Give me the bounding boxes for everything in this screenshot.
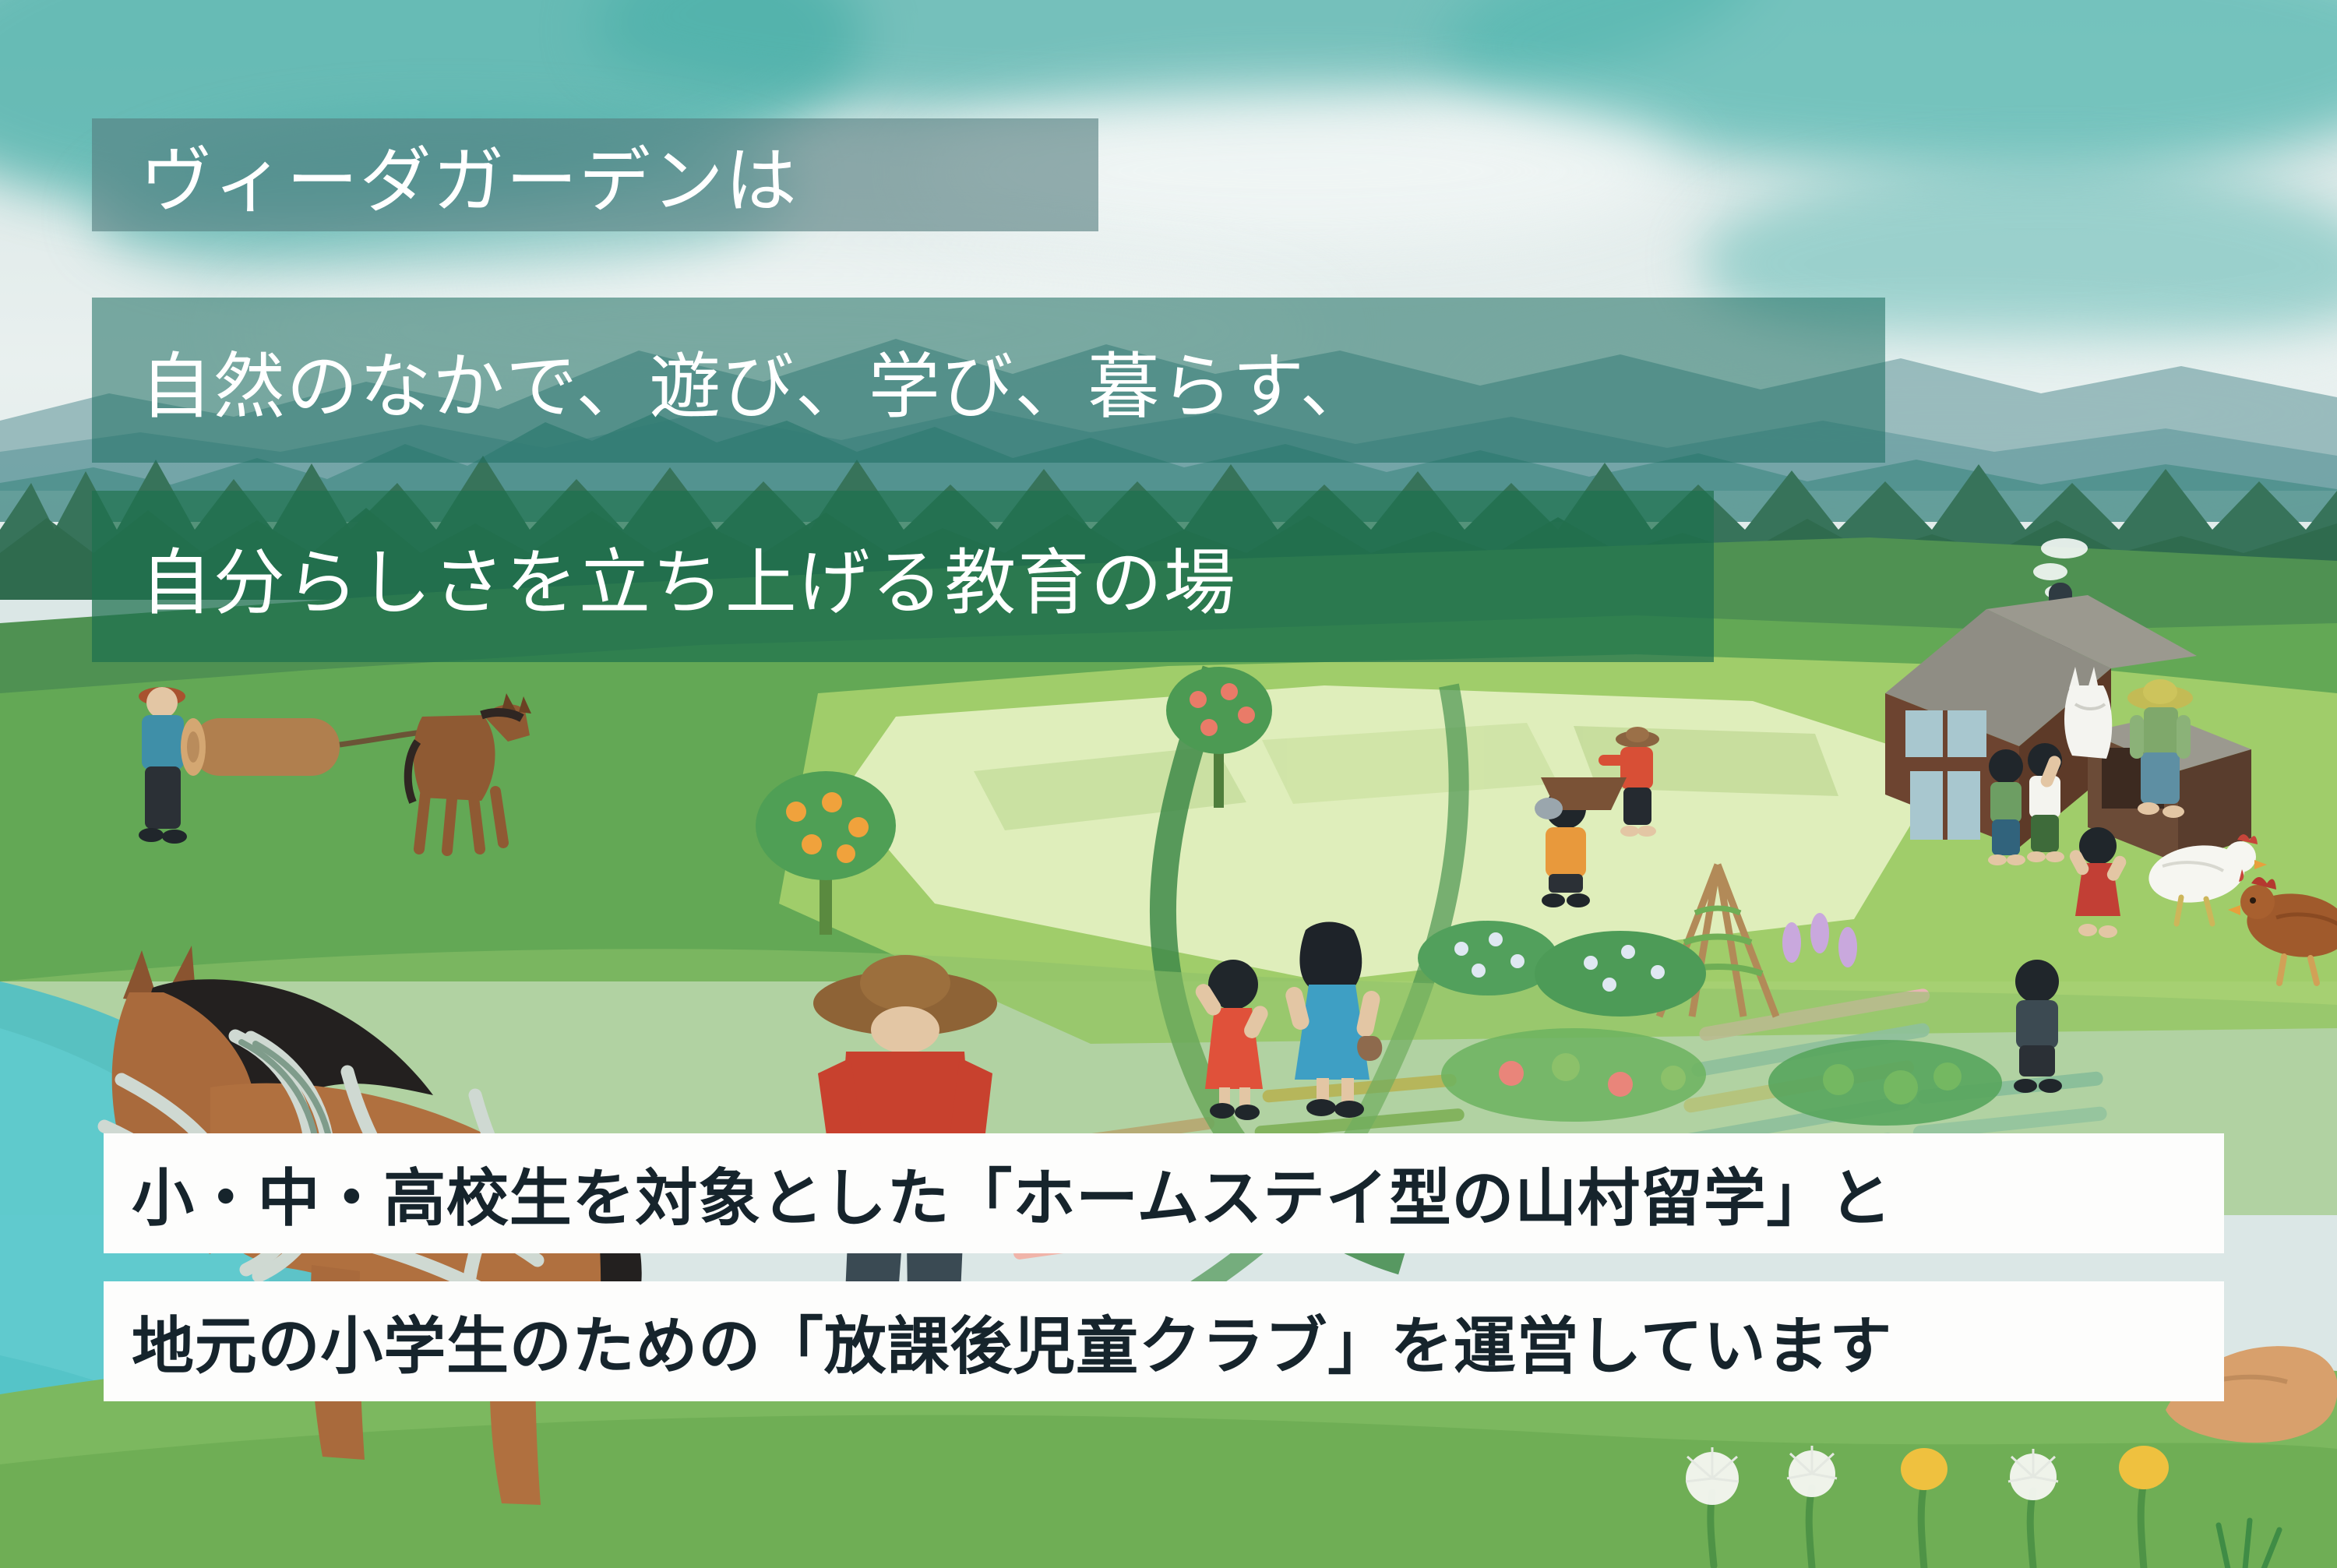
- subtext-box-1: 小・中・高校生を対象とした「ホームステイ型の山村留学」と: [104, 1133, 2224, 1253]
- headline-band-2: 自然のなかで、遊び、学び、暮らす、: [92, 298, 1885, 463]
- child-red-dress: [2063, 826, 2133, 943]
- logging-horse-team: [117, 670, 553, 872]
- adult-blue-dress: [1278, 918, 1394, 1120]
- child-red-dress-walking: [1188, 958, 1281, 1122]
- fruit-tree-red: [1161, 662, 1278, 810]
- poster-canvas: ヴィーダガーデンは 自然のなかで、遊び、学び、暮らす、 自分らしさを立ち上げる教…: [0, 0, 2337, 1568]
- child-picking: [1994, 958, 2080, 1098]
- dandelions: [1667, 1433, 2337, 1568]
- fruit-tree-orange: [748, 763, 904, 943]
- subtext-box-2: 地元の小学生のための「放課後児童クラブ」を運営しています: [104, 1281, 2224, 1401]
- farmer-with-hat: [2117, 675, 2203, 823]
- subtext-line-1: 小・中・高校生を対象とした「ホームステイ型の山村留学」と: [104, 1148, 1892, 1239]
- wheelbarrow-basket: [1533, 762, 1634, 824]
- brown-chicken: [2229, 866, 2337, 991]
- headline-line-3: 自分らしさを立ち上げる教育の場: [92, 525, 1237, 629]
- headline-line-1: ヴィーダガーデンは: [92, 123, 798, 227]
- subtext-line-2: 地元の小学生のための「放課後児童クラブ」を運営しています: [104, 1296, 1892, 1387]
- headline-band-1: ヴィーダガーデンは: [92, 118, 1098, 231]
- headline-line-2: 自然のなかで、遊び、学び、暮らす、: [92, 329, 1373, 432]
- headline-band-3: 自分らしさを立ち上げる教育の場: [92, 491, 1714, 662]
